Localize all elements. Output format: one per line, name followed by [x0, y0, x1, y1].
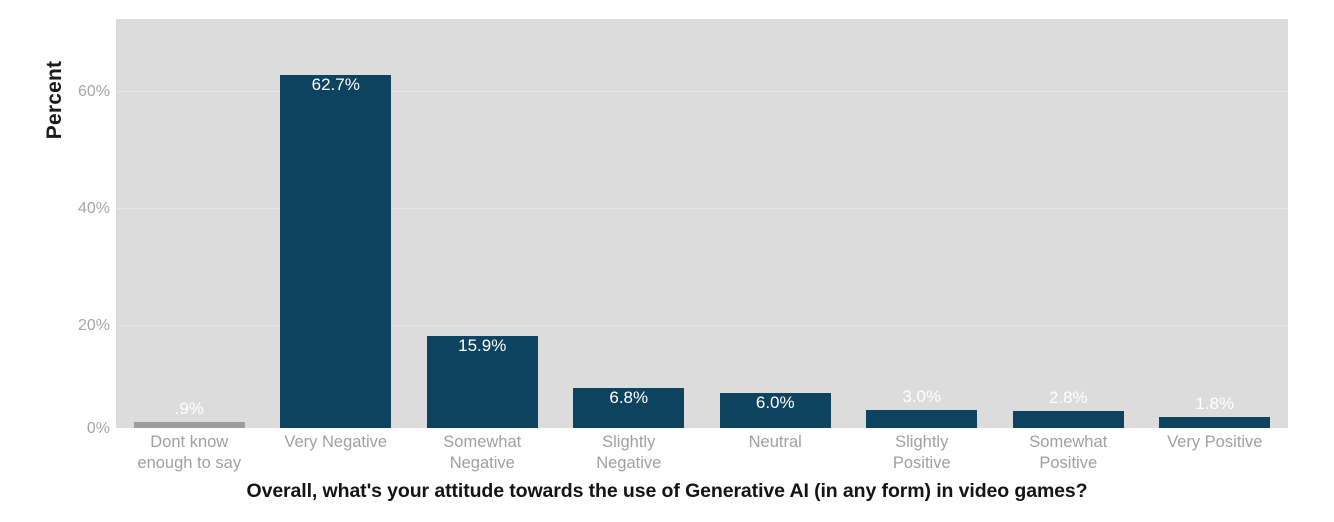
- bar-group-somewhat-positive[interactable]: 2.8%: [995, 19, 1142, 428]
- bar-value-somewhat-positive: 2.8%: [995, 388, 1142, 408]
- x-label-very-positive: Very Positive: [1142, 432, 1289, 453]
- bar-series: .9% 62.7% 15.9% 6.8% 6.0% 3.0%: [116, 19, 1288, 428]
- x-label-slightly-negative-line2: Negative: [556, 453, 703, 474]
- bar-group-very-negative[interactable]: 62.7%: [263, 19, 410, 428]
- x-label-somewhat-positive: Somewhat Positive: [995, 432, 1142, 474]
- bar-very-negative[interactable]: [280, 75, 391, 428]
- bar-value-neutral: 6.0%: [702, 393, 849, 413]
- bar-somewhat-positive[interactable]: [1013, 411, 1124, 428]
- x-label-slightly-positive-line1: Slightly: [849, 432, 996, 453]
- bar-chart: Percent 60% 40% 20% 0% .9% 62.7% 15.9%: [0, 0, 1334, 522]
- x-axis-labels: Dont know enough to say Very Negative So…: [116, 432, 1288, 478]
- y-tick-label-0: 0%: [52, 421, 110, 437]
- bar-value-somewhat-negative: 15.9%: [409, 336, 556, 356]
- x-label-very-negative: Very Negative: [263, 432, 410, 453]
- x-label-very-positive-line1: Very Positive: [1142, 432, 1289, 453]
- x-label-somewhat-negative-line1: Somewhat: [409, 432, 556, 453]
- x-label-dont-know-line1: Dont know: [116, 432, 263, 453]
- bar-dont-know[interactable]: [134, 422, 245, 428]
- bar-group-dont-know[interactable]: .9%: [116, 19, 263, 428]
- bar-value-slightly-positive: 3.0%: [849, 387, 996, 407]
- x-label-somewhat-positive-line1: Somewhat: [995, 432, 1142, 453]
- bar-slightly-positive[interactable]: [866, 410, 977, 428]
- plot-area: .9% 62.7% 15.9% 6.8% 6.0% 3.0%: [116, 19, 1288, 428]
- x-label-somewhat-negative-line2: Negative: [409, 453, 556, 474]
- x-label-very-negative-line1: Very Negative: [263, 432, 410, 453]
- x-label-slightly-positive-line2: Positive: [849, 453, 996, 474]
- x-label-somewhat-negative: Somewhat Negative: [409, 432, 556, 474]
- y-tick-label-20: 20%: [52, 318, 110, 334]
- bar-group-slightly-positive[interactable]: 3.0%: [849, 19, 996, 428]
- x-label-slightly-positive: Slightly Positive: [849, 432, 996, 474]
- x-label-somewhat-positive-line2: Positive: [995, 453, 1142, 474]
- x-label-neutral-line1: Neutral: [702, 432, 849, 453]
- x-label-neutral: Neutral: [702, 432, 849, 453]
- bar-value-dont-know: .9%: [116, 399, 263, 419]
- y-axis-ticks: 60% 40% 20% 0%: [46, 0, 110, 522]
- y-tick-label-40: 40%: [52, 201, 110, 217]
- bar-value-very-negative: 62.7%: [263, 75, 410, 95]
- bar-group-slightly-negative[interactable]: 6.8%: [556, 19, 703, 428]
- x-label-slightly-negative: Slightly Negative: [556, 432, 703, 474]
- bar-value-slightly-negative: 6.8%: [556, 388, 703, 408]
- x-axis-title: Overall, what's your attitude towards th…: [0, 480, 1334, 503]
- bar-group-neutral[interactable]: 6.0%: [702, 19, 849, 428]
- bar-group-very-positive[interactable]: 1.8%: [1142, 19, 1289, 428]
- x-label-dont-know-line2: enough to say: [116, 453, 263, 474]
- bar-group-somewhat-negative[interactable]: 15.9%: [409, 19, 556, 428]
- bar-value-very-positive: 1.8%: [1142, 394, 1289, 414]
- y-tick-label-60: 60%: [52, 84, 110, 100]
- x-label-dont-know: Dont know enough to say: [116, 432, 263, 474]
- x-label-slightly-negative-line1: Slightly: [556, 432, 703, 453]
- bar-very-positive[interactable]: [1159, 417, 1270, 428]
